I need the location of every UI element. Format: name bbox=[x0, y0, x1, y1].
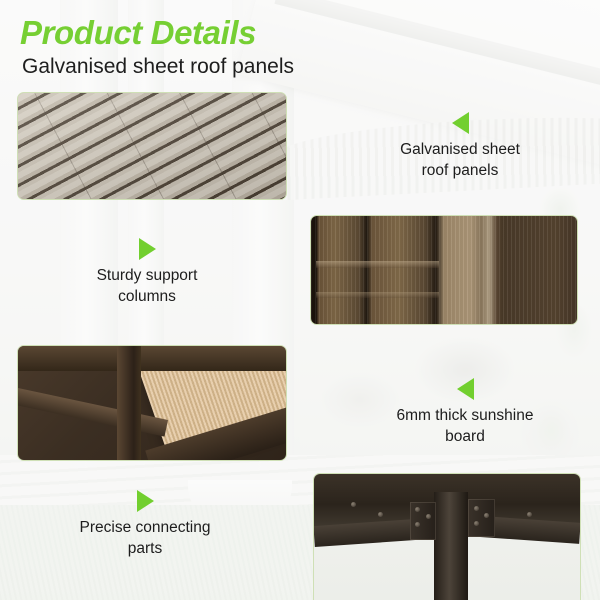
joint-bolt bbox=[378, 512, 383, 517]
callout-label: 6mm thick sunshine board bbox=[370, 406, 560, 448]
joint-bracket-left bbox=[410, 502, 437, 540]
roof-sheen bbox=[18, 93, 286, 199]
callout-label: Galvanised sheet roof panels bbox=[372, 140, 548, 182]
joint-bolt bbox=[351, 502, 356, 507]
callout-sturdy-support-columns: Sturdy support columns bbox=[62, 238, 232, 308]
callout-label: Sturdy support columns bbox=[62, 266, 232, 308]
joint-bolt bbox=[415, 507, 420, 512]
callout-precise-connecting-parts: Precise connecting parts bbox=[52, 490, 238, 560]
arrow-left-icon bbox=[457, 378, 474, 400]
board-reflection-lower bbox=[316, 292, 438, 298]
callout-label: Precise connecting parts bbox=[52, 518, 238, 560]
callout-galvanised-sheet-roof-panels: Galvanised sheet roof panels bbox=[372, 112, 548, 182]
beam-top-rail bbox=[18, 346, 286, 371]
joint-post bbox=[434, 492, 469, 600]
joint-bolt bbox=[474, 506, 479, 511]
arrow-right-icon bbox=[139, 238, 156, 260]
page-subtitle: Galvanised sheet roof panels bbox=[22, 55, 294, 79]
support-beam-photo bbox=[17, 345, 287, 461]
galvanised-roof-photo bbox=[17, 92, 287, 200]
joint-bolt bbox=[415, 522, 420, 527]
page-title: Product Details bbox=[20, 14, 256, 52]
board-ribs bbox=[311, 216, 577, 324]
callout-6mm-thick-sunshine-board: 6mm thick sunshine board bbox=[370, 378, 560, 448]
beam-vertical-post bbox=[117, 346, 141, 460]
arrow-left-icon bbox=[452, 112, 469, 134]
connecting-parts-photo bbox=[313, 473, 581, 600]
joint-bolt bbox=[527, 512, 532, 517]
joint-bracket-right bbox=[468, 499, 495, 537]
joint-bolt bbox=[474, 521, 479, 526]
arrow-right-icon bbox=[137, 490, 154, 512]
sunshine-board-photo bbox=[310, 215, 578, 325]
board-reflection-upper bbox=[316, 261, 438, 268]
